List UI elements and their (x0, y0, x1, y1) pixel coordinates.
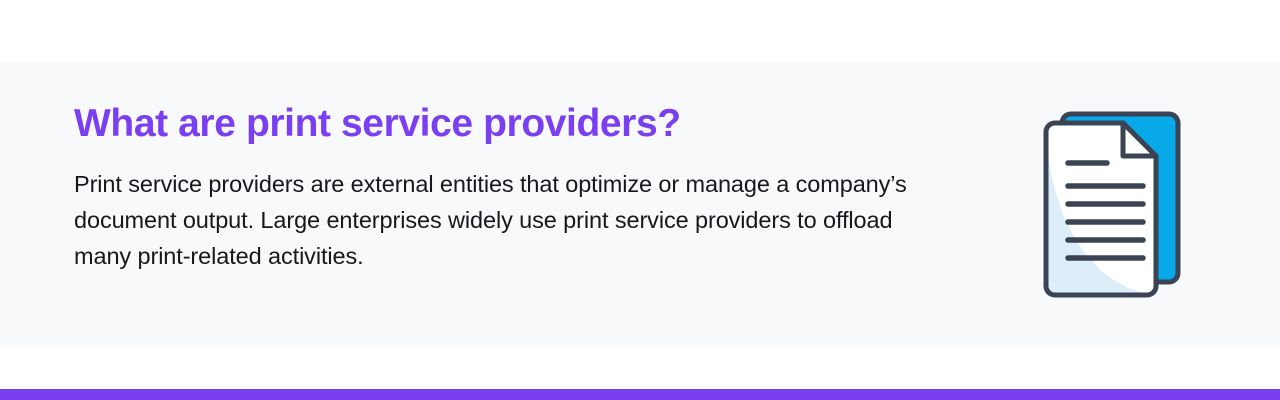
top-gutter (0, 0, 1280, 62)
bottom-gutter (0, 345, 1280, 389)
callout-heading: What are print service providers? (74, 102, 974, 146)
callout-text-column: What are print service providers? Print … (74, 102, 974, 274)
callout-band: What are print service providers? Print … (0, 62, 1280, 345)
callout-body-text: Print service providers are external ent… (74, 146, 954, 274)
purple-divider-rule (0, 389, 1280, 400)
stacked-documents-illustration (1036, 108, 1192, 304)
callout-inner: What are print service providers? Print … (0, 62, 1280, 345)
front-page-shape (1046, 123, 1156, 295)
